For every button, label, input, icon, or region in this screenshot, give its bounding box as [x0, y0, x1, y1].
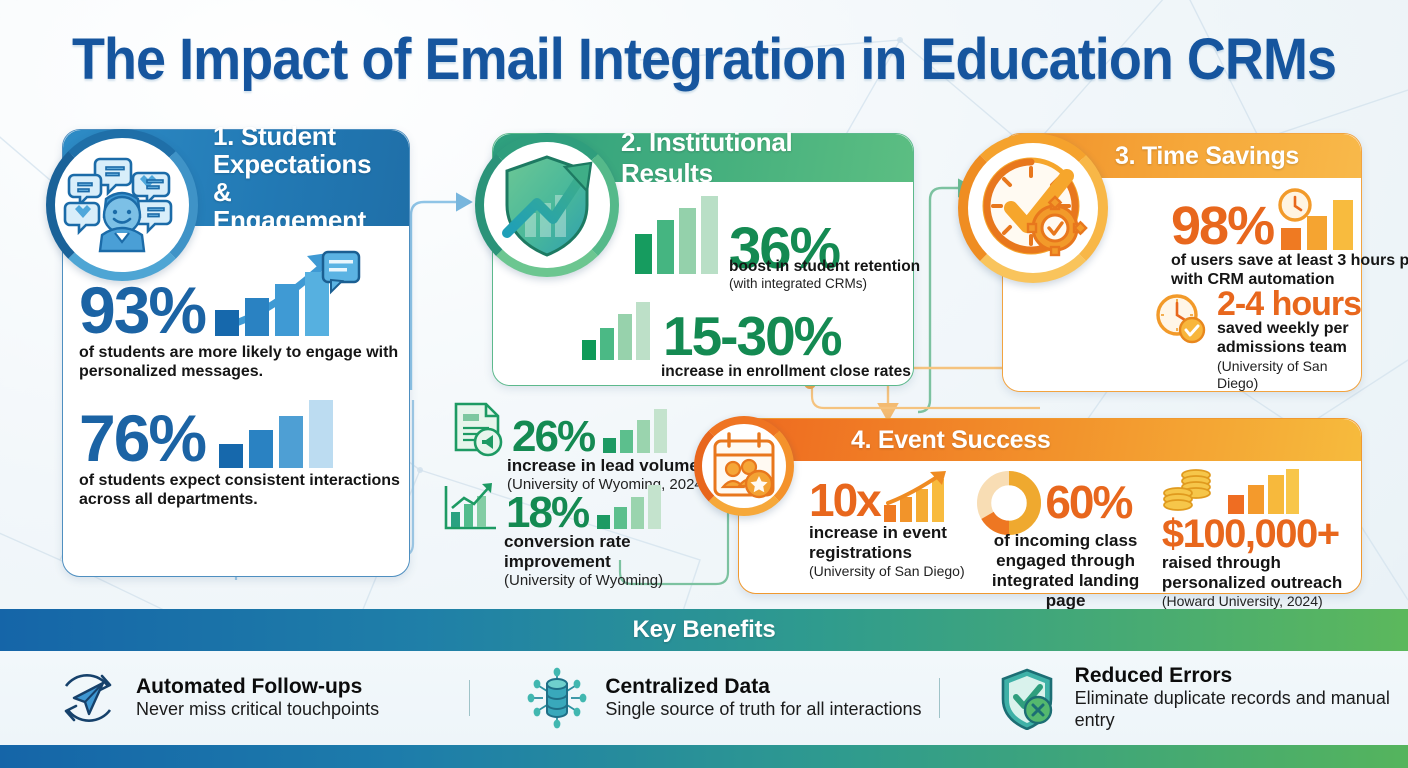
paper-plane-refresh-icon	[56, 666, 120, 730]
mid-stat-18-source: (University of Wyoming)	[504, 572, 742, 590]
benefit-automated-follow-ups: Automated Follow-ups Never miss critical…	[0, 666, 469, 730]
stat-10x-source: (University of San Diego)	[809, 563, 969, 580]
stat-93-caption: of students are more likely to engage wi…	[79, 344, 409, 382]
benefit-2-title: Reduced Errors	[1075, 664, 1408, 688]
bar-chart-arrow-up-icon	[882, 471, 952, 523]
benefit-centralized-data: Centralized Data Single source of truth …	[469, 666, 938, 730]
shield-check-x-icon	[995, 666, 1059, 730]
benefit-0-desc: Never miss critical touchpoints	[136, 699, 379, 721]
key-benefits-header: Key Benefits	[0, 609, 1408, 651]
bar-chart-icon	[1226, 469, 1300, 515]
stat-100000-caption: raised through personalized outreach	[1162, 553, 1351, 593]
mid-stat-18-caption: conversion rate improvement	[504, 532, 742, 572]
benefit-reduced-errors: Reduced Errors Eliminate duplicate recor…	[939, 664, 1408, 731]
bottom-accent-strip	[0, 745, 1408, 768]
stat-76-caption: of students expect consistent interactio…	[79, 472, 409, 510]
mid-stat-18-text: conversion rate improvement (University …	[504, 532, 742, 590]
benefit-0-title: Automated Follow-ups	[136, 675, 379, 699]
mid-stat-26-value: 26%	[512, 416, 594, 458]
benefit-2-desc: Eliminate duplicate records and manual e…	[1075, 688, 1408, 731]
document-megaphone-icon	[452, 400, 504, 458]
stat-76: 76% of students expect consistent intera…	[79, 396, 409, 510]
stat-60-value: 60%	[1045, 481, 1131, 525]
stat-2-4-hours: 2-4 hours saved weekly per admissions te…	[1153, 288, 1363, 392]
stat-2-4-hours-caption: saved weekly per admissions team	[1217, 320, 1363, 358]
panel4-header: 4. Event Success	[739, 419, 1361, 461]
calendar-people-star-icon	[694, 416, 794, 516]
stat-36-source: (with integrated CRMs)	[729, 276, 1029, 292]
mid-stat-18-value: 18%	[506, 492, 588, 534]
panel1-header-line1: 1. Student	[213, 122, 387, 150]
clock-bar-chart-icon	[1277, 188, 1361, 252]
stat-100000: $100,000+ raised through personalized ou…	[1162, 471, 1351, 587]
stat-15-30-caption: increase in enrollment close rates	[661, 363, 921, 381]
stat-100000-source: (Howard University, 2024)	[1162, 593, 1351, 610]
stat-76-value: 76%	[79, 407, 205, 470]
bar-chart-arrow-up-icon	[211, 250, 361, 342]
student-chat-bubbles-icon	[46, 129, 198, 281]
benefit-1-desc: Single source of truth for all interacti…	[605, 699, 921, 721]
clock-checkmark-gear-icon	[958, 133, 1108, 283]
bar-chart-icon	[596, 484, 666, 530]
stat-15-30: 15-30% increase in enrollment close rate…	[581, 300, 921, 381]
database-network-icon	[525, 666, 589, 730]
page-title: The Impact of Email Integration in Educa…	[49, 26, 1358, 93]
stat-10x: 10x increase in event registrations (Uni…	[809, 471, 969, 587]
stat-15-30-value: 15-30%	[663, 310, 841, 362]
donut-chart-icon	[977, 471, 1041, 535]
panel-event-success: 4. Event Success 10x increase in event r…	[738, 418, 1362, 594]
clock-check-icon	[1153, 292, 1207, 346]
stat-98-value: 98%	[1171, 201, 1273, 252]
key-benefits-title: Key Benefits	[633, 616, 776, 644]
shield-growth-arrow-icon	[475, 133, 619, 277]
growth-chart-icon	[442, 480, 498, 534]
stat-10x-value: 10x	[809, 479, 880, 523]
panel4-body: 10x increase in event registrations (Uni…	[739, 461, 1361, 593]
benefit-1-title: Centralized Data	[605, 675, 921, 699]
stat-2-4-hours-value: 2-4 hours	[1217, 288, 1363, 320]
bar-chart-icon	[602, 408, 672, 454]
stat-2-4-hours-source: (University of San Diego)	[1217, 358, 1363, 392]
stat-100000-value: $100,000+	[1162, 515, 1351, 553]
benefit-divider	[939, 678, 940, 717]
stat-60: 60% of incoming class engaged through in…	[977, 471, 1154, 587]
stat-60-caption: of incoming class engaged through integr…	[977, 531, 1154, 611]
benefit-divider	[469, 680, 470, 716]
mid-stat-18: 18% conversion rate improvement (Univers…	[442, 480, 742, 590]
bar-chart-icon	[633, 194, 719, 276]
key-benefits-body: Automated Follow-ups Never miss critical…	[0, 651, 1408, 745]
coins-bar-chart-icon	[1162, 467, 1218, 515]
stat-93-value: 93%	[79, 279, 205, 342]
stat-98: 98% of users save at least 3 hours per w…	[1171, 188, 1408, 290]
stat-10x-caption: increase in event registrations	[809, 523, 969, 563]
panel1-header-line2: Expectations	[213, 150, 387, 178]
bar-chart-icon	[581, 300, 653, 362]
bar-chart-icon	[217, 396, 337, 470]
